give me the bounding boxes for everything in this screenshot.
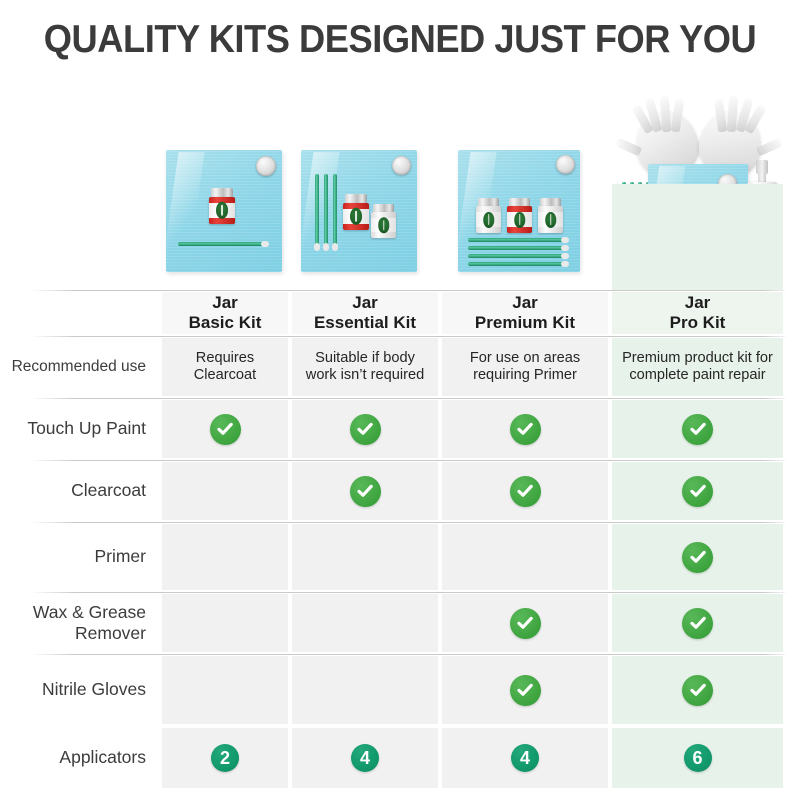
cell-recommended-use-essential: Suitable if body work isn’t required [290,336,440,398]
cell-applicators-pro: 6 [610,726,785,790]
use-line1: For use on areas [470,350,580,367]
check-icon [350,414,381,445]
applicator-count-badge: 4 [511,744,539,772]
comparison-chart-page: QUALITY KITS DESIGNED JUST FOR YOU [0,0,800,800]
column-header-line2: Basic Kit [189,313,262,333]
row-label-nitrile-gloves: Nitrile Gloves [0,654,160,726]
cell-touch-up-paint-premium [440,398,610,460]
cell-touch-up-paint-pro [610,398,785,460]
page-title: QUALITY KITS DESIGNED JUST FOR YOU [28,18,772,62]
cell-clearcoat-pro [610,460,785,522]
column-header-line2: Premium Kit [475,313,575,333]
header-row-label-blank [0,290,160,336]
column-header-pro[interactable]: Jar Pro Kit [610,290,785,336]
grid-right-margin [785,522,800,592]
column-header-premium[interactable]: Jar Premium Kit [440,290,610,336]
cell-applicators-essential: 4 [290,726,440,790]
use-line1: Requires [194,350,256,367]
check-icon [510,476,541,507]
check-icon [510,414,541,445]
cell-wax-grease-remover-pro [610,592,785,654]
use-line1: Premium product kit for [622,350,773,367]
row-label-touch-up-paint: Touch Up Paint [0,398,160,460]
cell-nitrile-gloves-premium [440,654,610,726]
row-label-applicators: Applicators [0,726,160,790]
grid-right-margin [785,654,800,726]
column-header-line2: Essential Kit [314,313,416,333]
photo-cell-essential [290,100,440,290]
cell-nitrile-gloves-essential [290,654,440,726]
photo-cell-basic [160,100,290,290]
grid-right-margin [785,100,800,290]
cell-wax-grease-remover-premium [440,592,610,654]
cell-primer-essential [290,522,440,592]
check-icon [510,608,541,639]
column-header-line1: Jar [512,293,538,313]
cell-nitrile-gloves-basic [160,654,290,726]
use-line2: requiring Primer [470,367,580,384]
use-line2: complete paint repair [622,367,773,384]
cell-clearcoat-premium [440,460,610,522]
check-icon [682,675,713,706]
cell-applicators-basic: 2 [160,726,290,790]
cell-primer-premium [440,522,610,592]
column-header-line1: Jar [352,293,378,313]
check-icon [682,542,713,573]
applicator-count-badge: 6 [684,744,712,772]
cell-primer-basic [160,522,290,592]
cell-recommended-use-premium: For use on areas requiring Primer [440,336,610,398]
grid-right-margin [785,290,800,336]
grid-right-margin [785,398,800,460]
cell-clearcoat-basic [160,460,290,522]
check-icon [682,476,713,507]
column-header-line1: Jar [685,293,711,313]
photo-cell-pro [610,100,785,290]
comparison-table: Jar Basic Kit Jar Essential Kit Jar Prem… [0,100,800,790]
grid-right-margin [785,460,800,522]
grid-right-margin [785,726,800,790]
column-header-line2: Pro Kit [670,313,726,333]
check-icon [350,476,381,507]
row-label-recommended-use: Recommended use [0,336,160,398]
cell-recommended-use-basic: Requires Clearcoat [160,336,290,398]
row-label-primer: Primer [0,522,160,592]
cell-recommended-use-pro: Premium product kit for complete paint r… [610,336,785,398]
grid-right-margin [785,336,800,398]
grid-right-margin [785,592,800,654]
cell-applicators-premium: 4 [440,726,610,790]
row-label-line1: Wax & Grease [33,602,146,623]
applicator-count-badge: 2 [211,744,239,772]
use-line2: Clearcoat [194,367,256,384]
cell-touch-up-paint-essential [290,398,440,460]
row-label-line2: Remover [33,623,146,644]
cell-primer-pro [610,522,785,592]
cell-clearcoat-essential [290,460,440,522]
row-label-wax-grease-remover: Wax & Grease Remover [0,592,160,654]
check-icon [510,675,541,706]
column-header-line1: Jar [212,293,238,313]
cell-wax-grease-remover-essential [290,592,440,654]
use-line1: Suitable if body [306,350,424,367]
use-line2: work isn’t required [306,367,424,384]
cell-touch-up-paint-basic [160,398,290,460]
check-icon [210,414,241,445]
cell-wax-grease-remover-basic [160,592,290,654]
check-icon [682,608,713,639]
photo-cell-premium [440,100,610,290]
table-corner-spacer [0,100,160,290]
row-label-clearcoat: Clearcoat [0,460,160,522]
check-icon [682,414,713,445]
applicator-count-badge: 4 [351,744,379,772]
column-header-basic[interactable]: Jar Basic Kit [160,290,290,336]
cell-nitrile-gloves-pro [610,654,785,726]
column-header-essential[interactable]: Jar Essential Kit [290,290,440,336]
